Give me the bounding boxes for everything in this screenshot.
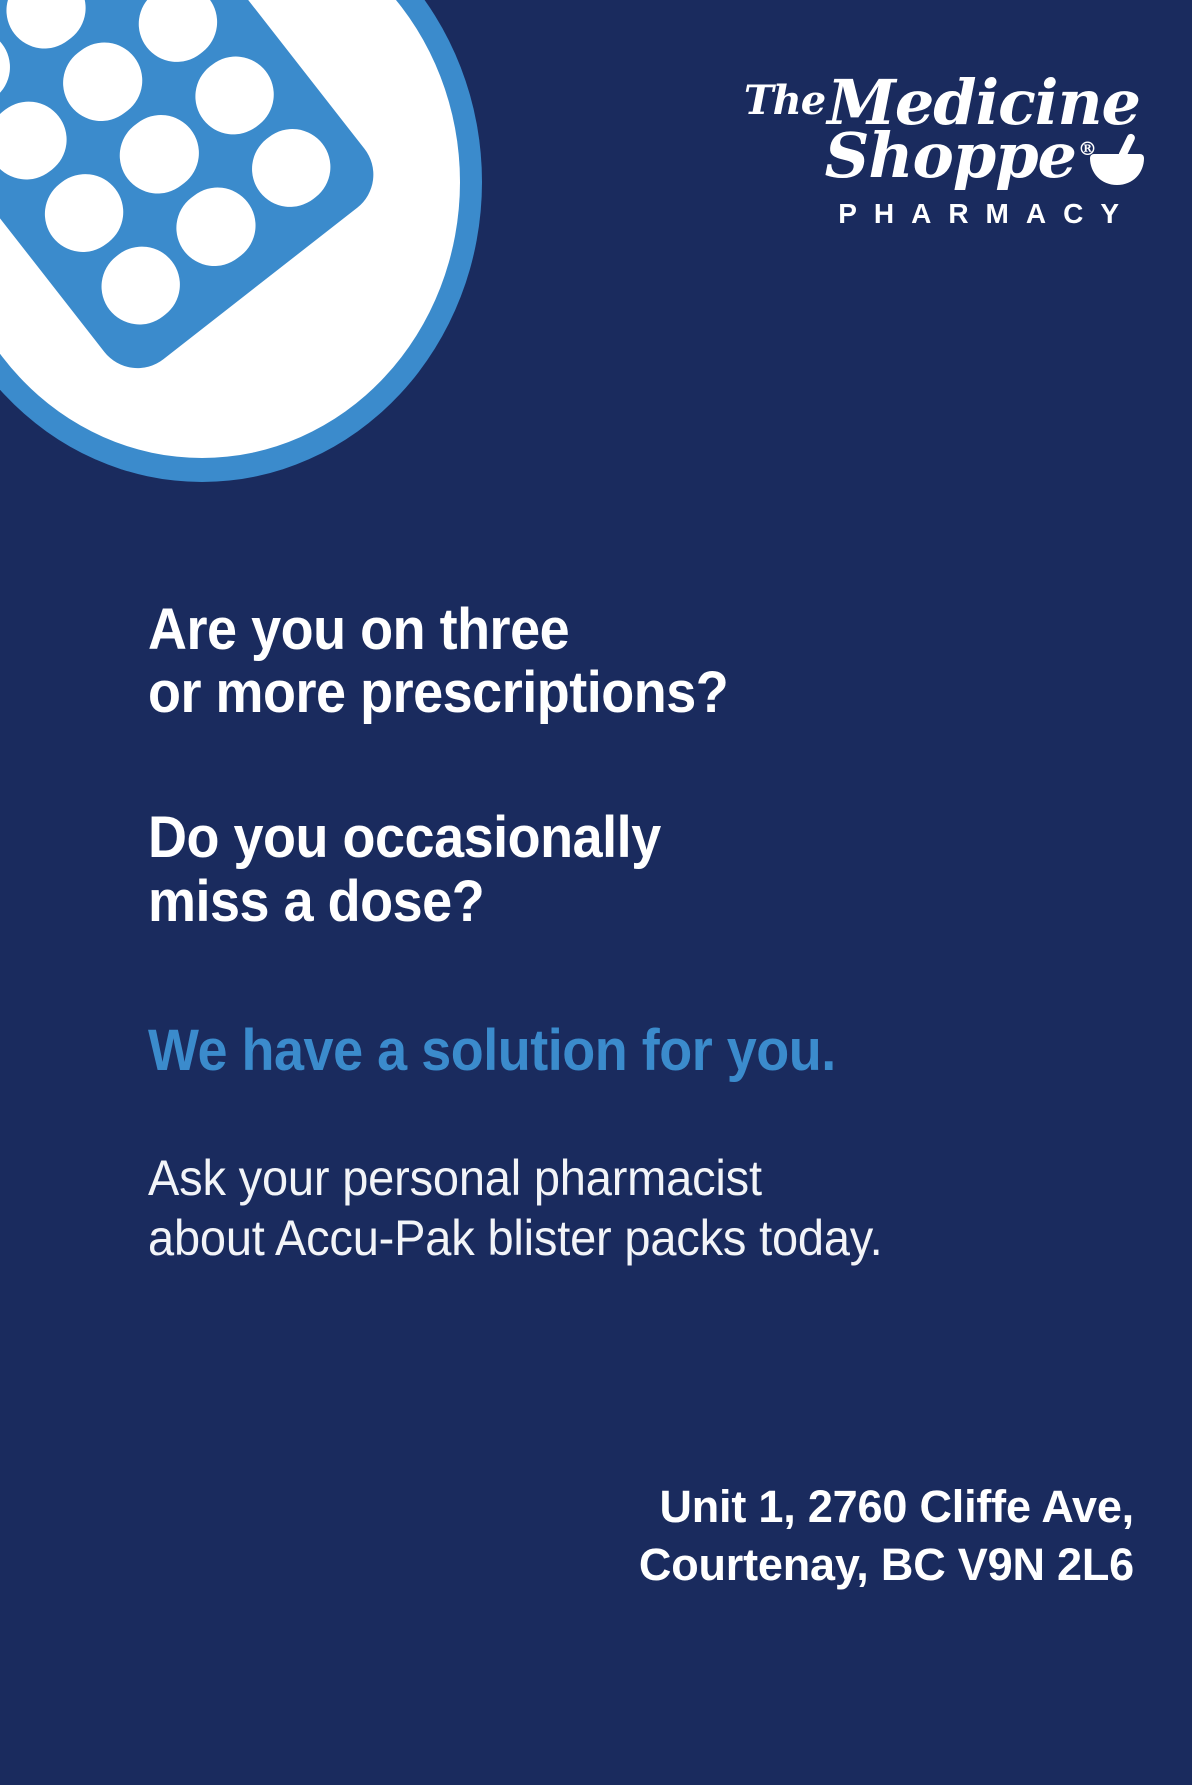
pill-capsule xyxy=(236,114,345,223)
address-line-1: Unit 1, 2760 Cliffe Ave, xyxy=(639,1478,1134,1536)
pharmacy-poster: TheMedicine Shoppe® PHARMACY Are you on … xyxy=(0,0,1192,1785)
headline-2-line-1: Do you occasionally xyxy=(148,806,1041,869)
logo-line-shoppe: Shoppe® xyxy=(720,127,1140,184)
store-address: Unit 1, 2760 Cliffe Ave, Courtenay, BC V… xyxy=(639,1478,1134,1593)
body-line-1: Ask your personal pharmacist xyxy=(148,1148,1050,1208)
headline-2-line-2: miss a dose? xyxy=(148,870,1041,933)
brand-logo: TheMedicine Shoppe® PHARMACY xyxy=(720,74,1140,230)
headline-prescriptions: Are you on three or more prescriptions? xyxy=(148,598,1041,724)
headline-1-line-1: Are you on three xyxy=(148,598,1041,661)
logo-pharmacy-label: PHARMACY xyxy=(720,198,1140,230)
address-line-2: Courtenay, BC V9N 2L6 xyxy=(639,1536,1134,1594)
solution-tagline-text: We have a solution for you. xyxy=(148,1019,1041,1082)
logo-wordmark: TheMedicine Shoppe® xyxy=(720,74,1140,184)
headline-1-line-2: or more prescriptions? xyxy=(148,661,1041,724)
blister-pack-badge xyxy=(0,0,482,482)
body-line-2: about Accu-Pak blister packs today. xyxy=(148,1208,1050,1268)
pill-capsule xyxy=(161,172,270,281)
headline-missed-dose: Do you occasionally miss a dose? xyxy=(148,806,1041,932)
logo-word-the: The xyxy=(744,77,825,124)
poster-content: Are you on three or more prescriptions? … xyxy=(148,598,1108,1268)
logo-word-shoppe: Shoppe xyxy=(825,119,1076,192)
mortar-and-pestle-icon xyxy=(1090,132,1144,188)
solution-tagline: We have a solution for you. xyxy=(148,1019,1041,1082)
body-copy: Ask your personal pharmacist about Accu-… xyxy=(148,1148,1050,1268)
pill-capsule xyxy=(86,231,195,340)
